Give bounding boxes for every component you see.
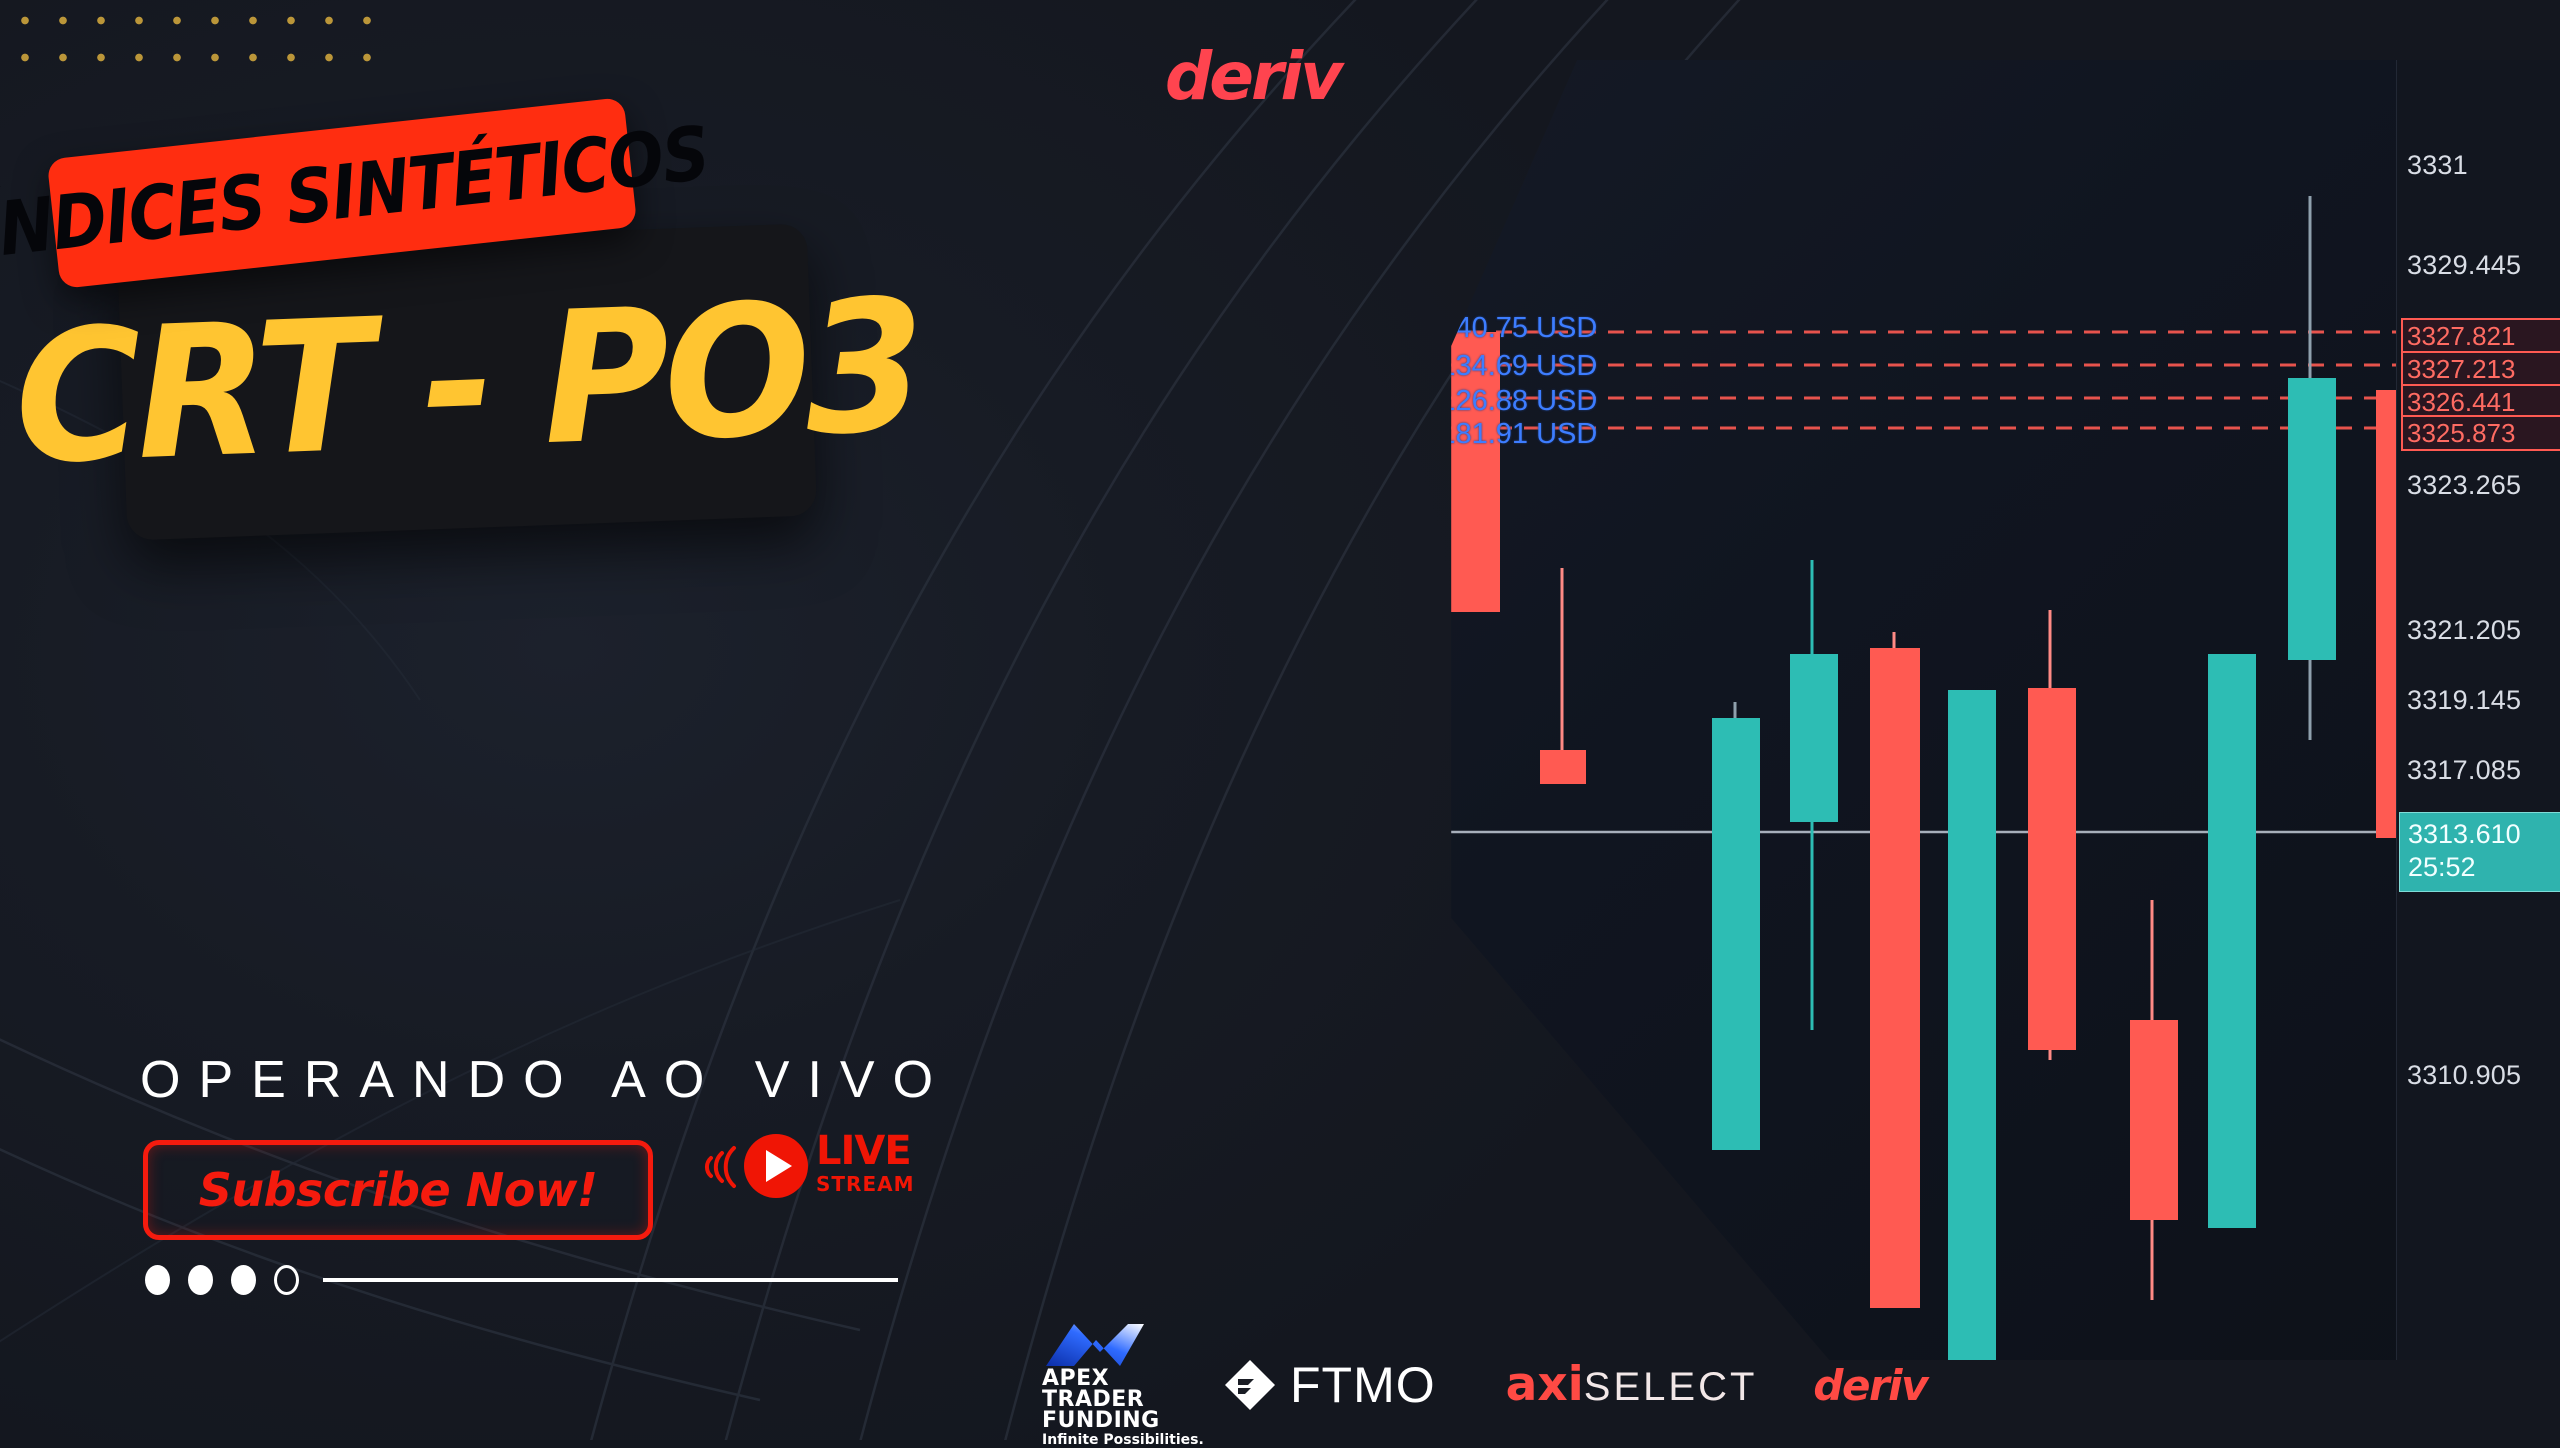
live-label: LIVE [816,1132,911,1170]
stream-label: STREAM [816,1172,915,1196]
apex-trader-funding-logo: APEX TRADER FUNDING Infinite Possibiliti… [1030,1322,1162,1440]
subscribe-button-label: Subscribe Now! [199,1163,598,1217]
deriv-logo: deriv [1165,38,1340,115]
price-tick-6: 3317.085 [2407,755,2521,786]
price-tick-8: 3310.905 [2407,1060,2521,1091]
current-price-value: 3313.610 [2408,819,2521,849]
broadcast-waves-icon [700,1136,742,1198]
ftmo-mark-icon [1224,1359,1276,1411]
ftmo-logo: FTMO [1224,1356,1436,1414]
subscribe-button[interactable]: Subscribe Now! [143,1140,653,1240]
deriv-footer-logo: deriv [1813,1361,1927,1410]
price-tick-5: 3319.145 [2407,685,2521,716]
position-price-box-4[interactable]: 3325.873 [2401,415,2560,451]
price-tick-4: 3321.205 [2407,615,2521,646]
apex-name: APEX TRADER FUNDING [1042,1368,1160,1431]
carousel-dots[interactable] [145,1265,898,1295]
ftmo-wordmark: FTMO [1290,1356,1436,1414]
live-stream-badge: LIVE STREAM [700,1128,880,1206]
carousel-dot-1[interactable] [145,1265,170,1295]
price-tick-1: 3329.445 [2407,250,2521,281]
carousel-dot-3[interactable] [231,1265,256,1295]
current-price-countdown: 25:52 [2408,851,2560,884]
play-triangle-icon [766,1150,792,1182]
current-price-badge: 3313.610 25:52 [2399,812,2560,892]
position-price-box-2[interactable]: 3327.213 [2401,351,2560,387]
price-tick-0: 3331 [2407,150,2468,181]
position-price-box-1[interactable]: 3327.821 [2401,318,2560,354]
page-title: CRT - PO3 [11,274,922,489]
carousel-dot-4[interactable] [274,1265,299,1295]
select-wordmark: SELECT [1584,1365,1758,1409]
carousel-dot-2[interactable] [188,1265,213,1295]
price-axis[interactable]: 3331 3329.445 3325.325 3323.265 3321.205… [2396,60,2560,1360]
apex-mark-icon [1044,1322,1148,1368]
dot-grid-decoration [0,0,376,88]
price-tick-3: 3323.265 [2407,470,2521,501]
axi-wordmark: axi [1506,1357,1584,1412]
carousel-progress-bar [323,1278,898,1282]
tagline: OPERANDO AO VIVO [140,1050,951,1110]
apex-tagline: Infinite Possibilities. [1042,1432,1204,1448]
partner-logos: APEX TRADER FUNDING Infinite Possibiliti… [1030,1322,1927,1440]
axiselect-logo: axiSELECT [1506,1357,1758,1412]
